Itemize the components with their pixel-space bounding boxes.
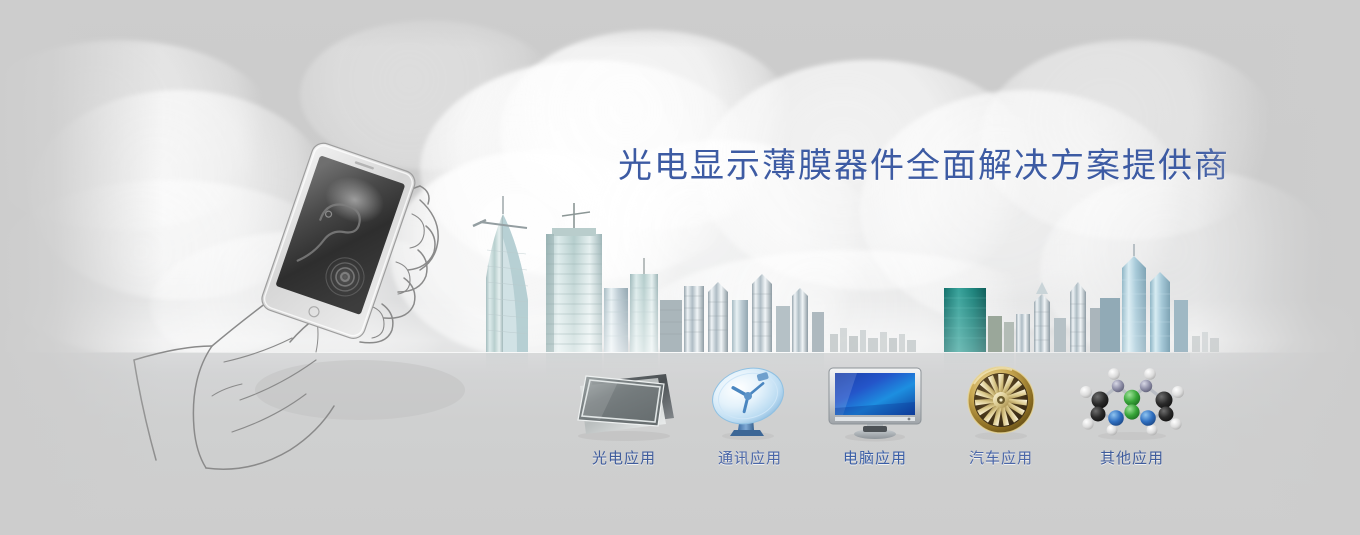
application-item-other[interactable]: 其他应用 xyxy=(1064,358,1200,468)
application-item-communication[interactable]: 通讯应用 xyxy=(688,358,812,468)
building-glass-tower-pair xyxy=(604,258,658,352)
satellite-dish-icon xyxy=(688,360,812,442)
application-label: 通讯应用 xyxy=(718,447,782,468)
application-label: 电脑应用 xyxy=(843,447,907,468)
application-item-optoelectronic[interactable]: 光电应用 xyxy=(560,358,688,468)
application-label: 汽车应用 xyxy=(969,447,1033,468)
building-distant-low-rise-row xyxy=(830,328,916,352)
desktop-monitor-icon xyxy=(812,364,938,442)
metal-center-atoms xyxy=(1124,390,1140,420)
application-label: 光电应用 xyxy=(592,447,656,468)
building-tall-cylindrical-tower xyxy=(546,203,602,352)
hand-holding-smartphone-sketch xyxy=(120,110,480,500)
car-alloy-wheel-icon xyxy=(938,362,1064,442)
application-item-computer[interactable]: 电脑应用 xyxy=(812,358,938,468)
building-far-right-low-rise xyxy=(1192,332,1219,352)
building-blue-glass-twin-towers xyxy=(1100,244,1188,352)
page-title: 光电显示薄膜器件全面解决方案提供商 xyxy=(618,138,1230,187)
building-teal-office-block xyxy=(944,288,1014,352)
building-mid-rise-cluster xyxy=(660,274,824,352)
stacked-glass-film-panels-icon xyxy=(560,366,688,442)
promotional-banner: 光电显示薄膜器件全面解决方案提供商 xyxy=(0,0,1360,535)
molecule-model-icon xyxy=(1064,364,1200,442)
application-label: 其他应用 xyxy=(1100,447,1164,468)
application-icon-row: 光电应用 xyxy=(560,358,1200,468)
building-silver-spire-cluster xyxy=(1016,282,1100,352)
building-burj-al-arab xyxy=(473,196,528,352)
application-item-automotive[interactable]: 汽车应用 xyxy=(938,358,1064,468)
smartphone-device xyxy=(259,140,418,342)
